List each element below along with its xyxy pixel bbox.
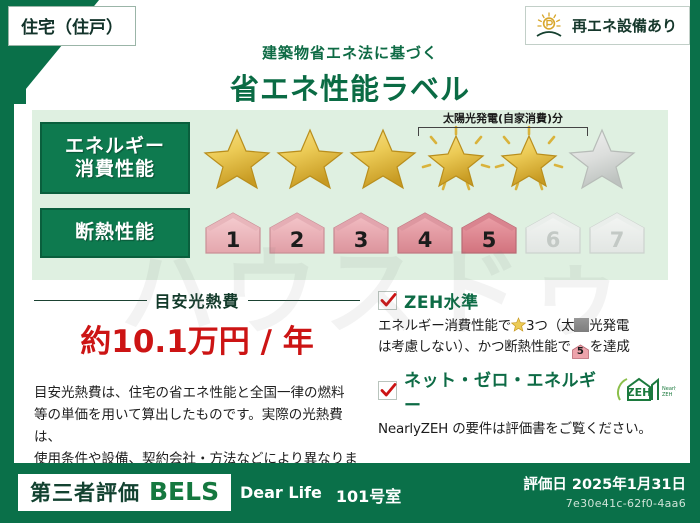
solar-annotation-bracket [418,127,588,136]
bels-certification-box: 第三者評価 BELS [18,474,231,511]
energy-performance-label: エネルギー 消費性能 [40,122,190,194]
rule-right [248,300,361,301]
cost-desc-line-1: 目安光熱費は、住宅の省エネ性能と全国一律の燃料 [34,383,360,405]
zeh-text-a: エネルギー消費性能で [378,318,511,334]
building-type-chip: 住宅（住戸） [8,6,136,46]
zeh-standard-item: ZEH水準 エネルギー消費性能で3つ（太光発電 は考慮しない）、かつ断熱性能で5… [378,288,676,360]
zeh-text-c: 光発電 [589,318,629,334]
insulation-level-4-number: 4 [418,228,433,256]
renewable-energy-badge: 再エネ設備あり [525,6,690,45]
insulation-level-5-number: 5 [482,228,497,256]
bels-jp-label: 第三者評価 [30,477,140,507]
zeh-standard-title: ZEH水準 [404,288,479,313]
energy-label-line2: 消費性能 [75,158,155,181]
star-1 [202,125,272,191]
mini-star-icon [511,317,526,332]
net-zero-description: NearlyZEH の要件は評価書をご覧ください。 [378,419,676,440]
zeh-house-logo-icon: ZEH Nearly ZEH [614,376,676,406]
svg-text:ZEH: ZEH [662,392,673,398]
insulation-level-2: 2 [266,210,328,256]
insulation-level-2-number: 2 [290,228,305,256]
insulation-level-7: 7 [586,210,648,256]
cost-desc-line-2: 等の単価を用いて算出したものです。実際の光熱費は、 [34,405,360,449]
energy-label-line1: エネルギー [65,135,165,158]
net-zero-title: ネット・ゼロ・エネルギー [404,366,603,416]
rule-left [34,300,147,301]
property-info: Dear Life 101号室 [240,483,401,507]
insulation-level-7-number: 7 [610,228,625,256]
zeh-text-d: は考慮しない）、かつ断熱性能で [378,339,571,355]
zeh-text-e: を達成 [590,339,630,355]
insulation-performance-label: 断熱性能 [40,208,190,258]
insulation-level-1-number: 1 [226,228,241,256]
star-2 [275,125,345,191]
utility-cost-heading: 目安光熱費 [34,288,360,312]
mini-house-badge: 5 [571,344,590,360]
room-number: 101号室 [336,483,401,507]
evaluation-meta: 評価日 2025年1月31日 7e30e41c-62f0-4aa6 [523,473,686,510]
insulation-performance-row: 断熱性能 1 [40,204,660,262]
lower-section: 目安光熱費 約10.1万円 / 年 目安光熱費は、住宅の省エネ性能と全国一律の燃… [14,286,686,463]
insulation-level-3: 3 [330,210,392,256]
sun-icon [534,12,564,38]
label-header: 建築物省エネ法に基づく 省エネ性能ラベル [0,42,700,108]
utility-cost-value: 約10.1万円 / 年 [34,316,360,361]
redaction-block [574,318,589,332]
net-zero-title-row: ネット・ゼロ・エネルギー ZEH Nearly ZEH [378,366,676,416]
insulation-level-6: 6 [522,210,584,256]
evaluation-date: 評価日 2025年1月31日 [523,473,686,494]
insulation-level-5: 5 [458,210,520,256]
insulation-level-1: 1 [202,210,264,256]
evaluation-uid: 7e30e41c-62f0-4aa6 [523,497,686,510]
zeh-text-b: 3つ（太 [526,318,574,334]
bels-label: 住宅（住戸） 再エネ設備あり 建築物省エネ法に基づく [0,0,700,523]
utility-cost-section: 目安光熱費 約10.1万円 / 年 目安光熱費は、住宅の省エネ性能と全国一律の燃… [14,286,374,463]
label-footer: 第三者評価 BELS Dear Life 101号室 評価日 2025年1月31… [0,463,700,523]
zeh-standard-title-row: ZEH水準 [378,288,676,313]
header-title: 省エネ性能ラベル [0,66,700,108]
renewable-badge-label: 再エネ設備あり [572,15,677,36]
zeh-section: ZEH水準 エネルギー消費性能で3つ（太光発電 は考慮しない）、かつ断熱性能で5… [374,286,686,463]
checkbox-checked-icon [378,291,397,310]
bels-en-label: BELS [149,477,219,506]
label-card: エネルギー 消費性能 [14,104,686,463]
utility-cost-title: 目安光熱費 [155,288,240,312]
svg-text:ZEH: ZEH [627,386,652,399]
insulation-level-3-number: 3 [354,228,369,256]
insulation-level-6-number: 6 [546,228,561,256]
net-zero-energy-item: ネット・ゼロ・エネルギー ZEH Nearly ZEH [378,366,676,440]
checkbox-checked-icon-2 [378,381,397,400]
solar-annotation: 太陽光発電(自家消費)分 [408,110,598,136]
solar-annotation-label: 太陽光発電(自家消費)分 [408,110,598,126]
property-name: Dear Life [240,483,322,507]
insulation-level-4: 4 [394,210,456,256]
zeh-standard-description: エネルギー消費性能で3つ（太光発電 は考慮しない）、かつ断熱性能で5を達成 [378,316,676,360]
mini-house-number: 5 [571,344,590,360]
insulation-level-scale: 1 2 [202,210,648,256]
